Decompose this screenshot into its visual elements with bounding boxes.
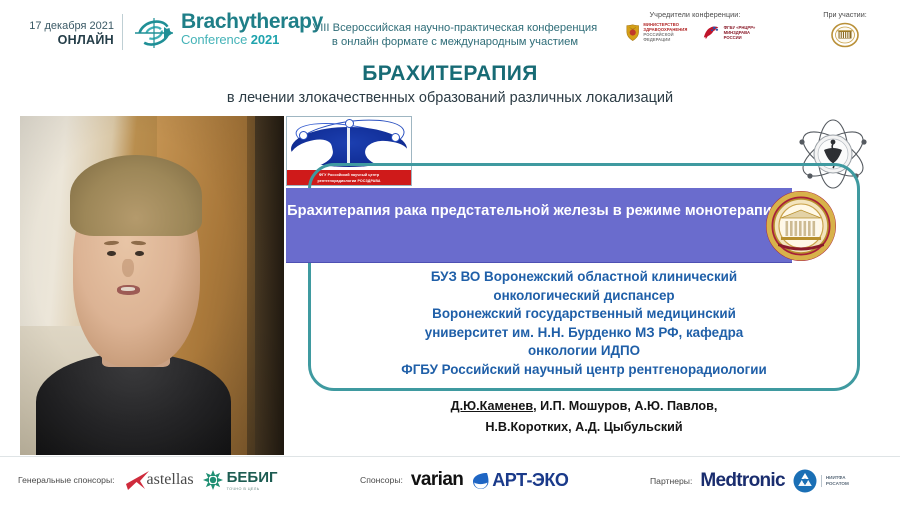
astellas-logo[interactable]: astellas [123,469,194,491]
sponsors-caption: Спонсоры: [360,475,403,485]
event-date-block: 17 декабря 2021 ОНЛАЙН [14,20,114,47]
participants-block: При участии: [800,10,890,48]
page-title: БРАХИТЕРАПИЯ [0,62,900,86]
bebig-logo[interactable]: БЕБИГ ТОЧНО В ЦЕЛЬ [202,469,278,491]
organization-line: Воронежский государственный медицинский [310,305,858,324]
header-divider [122,14,123,50]
institution-seal-icon [830,22,860,48]
sponsors-group: Спонсоры: varian АРТ-ЭКО [360,469,568,491]
conference-title-line2: в онлайн формате с международным участие… [295,35,615,49]
organization-line: БУЗ ВО Воронежский областной клинический [310,268,858,287]
conference-broadcast-screen: 17 декабря 2021 ОНЛАЙН Brachytherapy Con… [0,0,900,508]
event-date: 17 декабря 2021 [14,20,114,33]
varian-logo[interactable]: varian [411,469,463,491]
organization-line: онкологии ИДПО [310,342,858,361]
slide-title-band: Брахитерапия рака предстательной железы … [286,188,792,262]
conference-title-line1: VIII Всероссийская научно-практическая к… [295,21,615,35]
rosatom-mark-icon [793,469,817,493]
organization-line: университет им. Н.Н. Бурденко МЗ РФ, каф… [310,324,858,343]
minzdrav-line3: РОССИЙСКОЙ ФЕДЕРАЦИИ [643,32,696,42]
bebig-wordmark: БЕБИГ [227,469,278,486]
authors-line-1-rest: , И.П. Мошуров, А.Ю. Павлов, [533,399,717,413]
logo-node-right [391,133,400,142]
top-banner: 17 декабря 2021 ОНЛАЙН Brachytherapy Con… [0,0,900,62]
rosatom-logo[interactable]: НИИТФА РОСАТОМ [793,469,849,493]
bebig-mark-icon [202,469,224,491]
minzdrav-text: МИНИСТЕРСТВО ЗДРАВООХРАНЕНИЯ РОССИЙСКОЙ … [643,22,696,42]
rosatom-line2: РОСАТОМ [826,481,849,487]
video-vignette [20,116,284,455]
minzdrav-logo: МИНИСТЕРСТВО ЗДРАВООХРАНЕНИЯ РОССИЙСКОЙ … [625,22,696,42]
arteco-logo[interactable]: АРТ-ЭКО [471,470,568,491]
logo-needle [347,123,350,165]
organizers-block: Учредители конференции: МИНИСТЕРСТВО ЗДР… [625,10,765,42]
slide-authors: Д.Ю.Каменев, И.П. Мошуров, А.Ю. Павлов, … [310,396,858,438]
russian-coat-of-arms-icon [625,23,640,42]
arteco-drop-icon [471,471,490,490]
rosatom-text: НИИТФА РОСАТОМ [821,475,849,487]
brand-subtitle-year: 2021 [251,32,280,47]
arteco-wordmark: АРТ-ЭКО [492,470,568,491]
participant-logo [800,22,890,48]
general-sponsors-caption: Генеральные спонсоры: [18,475,115,485]
organization-line: ФГБУ Российский научный центр рентгенора… [310,361,858,380]
page-title-block: БРАХИТЕРАПИЯ в лечении злокачественных о… [0,62,900,106]
rncrr-logo: ФГБУ «РНЦРР» МИНЗДРАВА РОССИИ [702,24,765,41]
sponsors-footer: Генеральные спонсоры: astellas [0,456,900,509]
rncrr-emblem-icon [702,24,720,41]
page-subtitle: в лечении злокачественных образований ра… [0,90,900,106]
conference-title: VIII Всероссийская научно-практическая к… [295,21,615,49]
rncrr-line2: МИНЗДРАВА РОССИИ [724,30,765,40]
bebig-text-block: БЕБИГ ТОЧНО В ЦЕЛЬ [227,469,278,491]
slide-organizations: БУЗ ВО Воронежский областной клинический… [310,268,858,380]
participation-caption: При участии: [800,10,890,19]
authors-line-1: Д.Ю.Каменев, И.П. Мошуров, А.Ю. Павлов, [310,396,858,417]
bebig-tagline: ТОЧНО В ЦЕЛЬ [227,487,278,491]
speaker-video-tile[interactable] [20,116,284,455]
rncrr-text: ФГБУ «РНЦРР» МИНЗДРАВА РОССИИ [724,25,765,40]
organizers-caption: Учредители конференции: [625,10,765,19]
logo-node-left [299,131,308,140]
logo-node-top [345,119,354,128]
astellas-wordmark: astellas [147,471,194,489]
university-seal-icon [764,190,838,262]
slide-title: Брахитерапия рака предстательной железы … [286,200,782,222]
brand-subtitle-word: Conference [181,32,251,47]
authors-line-2: Н.В.Коротких, А.Д. Цыбульский [310,417,858,438]
organization-line: онкологический диспансер [310,287,858,306]
partners-caption: Партнеры: [650,476,692,486]
presentation-slide[interactable]: ФГУ Российский научный центр рентгенорад… [286,116,882,455]
event-mode: ОНЛАЙН [14,33,114,47]
partners-group: Партнеры: Medtronic НИИТФА РОСАТОМ [650,469,849,493]
target-crosshair-icon [133,15,175,51]
organizer-logos: МИНИСТЕРСТВО ЗДРАВООХРАНЕНИЯ РОССИЙСКОЙ … [625,22,765,42]
presenting-author: Д.Ю.Каменев [451,399,533,413]
medtronic-logo[interactable]: Medtronic [700,470,784,492]
general-sponsors-group: Генеральные спонсоры: astellas [18,469,277,491]
